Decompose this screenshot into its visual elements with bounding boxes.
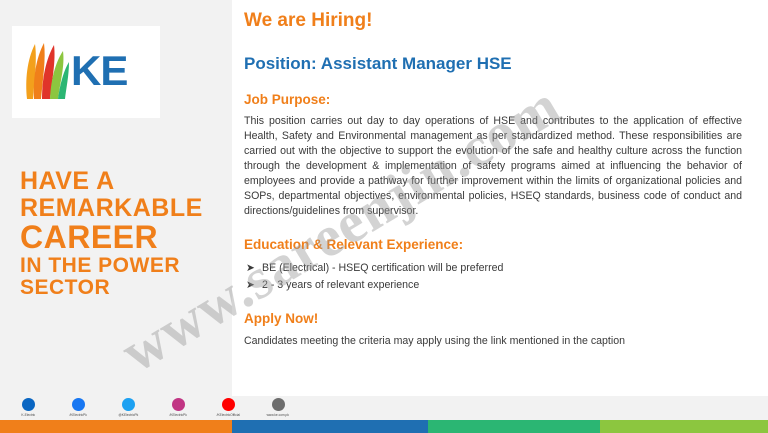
social-label: /KElectricPk — [69, 413, 86, 417]
tagline-line-2: REMARKABLE — [20, 195, 232, 222]
color-bar-segment-lime — [600, 420, 768, 433]
instagram-icon[interactable] — [172, 398, 185, 411]
social-label: www.ke.com.pk — [267, 413, 289, 417]
tagline-line-3: CAREER — [20, 221, 232, 255]
job-purpose-heading: Job Purpose: — [244, 92, 750, 107]
arrow-bullet-icon: ➤ — [246, 260, 255, 276]
tagline-line-4: IN THE POWER — [20, 255, 232, 277]
list-item-label: 2 - 3 years of relevant experience — [262, 279, 419, 291]
globe-icon[interactable] — [272, 398, 285, 411]
color-bar-segment-green — [428, 420, 600, 433]
social-link-youtube[interactable]: /KElectricOfficial — [210, 396, 246, 417]
arrow-bullet-icon: ➤ — [246, 277, 255, 293]
job-details-panel: We are Hiring! Position: Assistant Manag… — [240, 0, 768, 396]
left-branding-panel: KE HAVE A REMARKABLE CAREER IN THE POWER… — [0, 0, 232, 396]
apply-instructions-text: Candidates meeting the criteria may appl… — [244, 335, 750, 347]
facebook-icon[interactable] — [72, 398, 85, 411]
twitter-icon[interactable] — [122, 398, 135, 411]
social-link-website[interactable]: www.ke.com.pk — [260, 396, 296, 417]
list-item: ➤BE (Electrical) - HSEQ certification wi… — [244, 260, 750, 276]
position-heading: Position: Assistant Manager HSE — [244, 54, 750, 74]
list-item-label: BE (Electrical) - HSEQ certification wil… — [262, 262, 503, 274]
color-bar-segment-blue — [232, 420, 428, 433]
k-electric-flame-icon — [23, 42, 69, 100]
social-link-twitter[interactable]: @KElectricPk — [110, 396, 146, 417]
we-are-hiring-heading: We are Hiring! — [244, 10, 750, 32]
job-advertisement-page: KE HAVE A REMARKABLE CAREER IN THE POWER… — [0, 0, 768, 433]
logo-text: KE — [71, 44, 127, 98]
tagline-line-5: SECTOR — [20, 277, 232, 299]
social-label: @KElectricPk — [118, 413, 138, 417]
brand-color-bar — [0, 420, 768, 433]
logo-inner: KE — [23, 40, 149, 104]
list-item: ➤2 - 3 years of relevant experience — [244, 277, 750, 293]
color-bar-segment-orange — [0, 420, 232, 433]
social-label: /KElectricPk — [169, 413, 186, 417]
apply-now-heading: Apply Now! — [244, 311, 750, 326]
linkedin-icon[interactable] — [22, 398, 35, 411]
logo-card: KE — [12, 26, 160, 118]
social-links: K-Electric /KElectricPk @KElectricPk /KE… — [10, 396, 296, 417]
job-purpose-text: This position carries out day to day ope… — [244, 114, 742, 219]
social-link-instagram[interactable]: /KElectricPk — [160, 396, 196, 417]
youtube-icon[interactable] — [222, 398, 235, 411]
social-link-facebook[interactable]: /KElectricPk — [60, 396, 96, 417]
education-experience-heading: Education & Relevant Experience: — [244, 237, 750, 252]
social-footer-bar: K-Electric /KElectricPk @KElectricPk /KE… — [0, 396, 768, 420]
tagline-line-1: HAVE A — [20, 168, 232, 195]
tagline-block: HAVE A REMARKABLE CAREER IN THE POWER SE… — [20, 168, 232, 299]
social-label: K-Electric — [21, 413, 35, 417]
education-experience-list: ➤BE (Electrical) - HSEQ certification wi… — [244, 260, 750, 293]
social-link-linkedin[interactable]: K-Electric — [10, 396, 46, 417]
social-label: /KElectricOfficial — [216, 413, 239, 417]
